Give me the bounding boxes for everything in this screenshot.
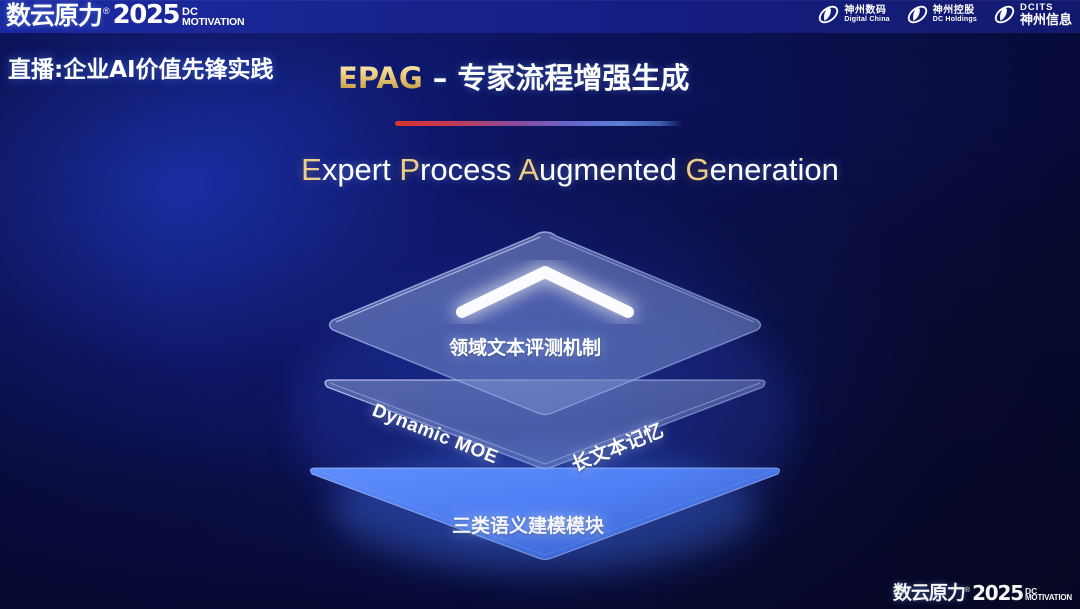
live-session-title: 直播:企业AI价值先锋实践 [8,50,274,84]
subtitle-rest-generation: eneration [710,152,839,187]
page-title: EPAG – 专家流程增强生成 [338,55,689,97]
watermark-dc-motivation: DC MOTIVATION [1025,587,1072,603]
partner-logo-cn: 神州信息 [1020,13,1072,27]
swoosh-icon [906,3,929,26]
subtitle-rest-augmented: ugmented [539,152,677,187]
brand-name-cn: 数云原力 [6,3,102,28]
subtitle-cap-g: G [685,152,709,187]
layer-label-top: 领域文本评测机制 [449,333,601,360]
partner-logo-en: DC Holdings [933,16,977,23]
page-title-chinese: 专家流程增强生成 [457,61,689,95]
brand-logo: 数云原力 ® 2025 DC MOTIVATION [6,2,244,28]
watermark-brand-cn: 数云原力 [893,584,965,603]
brand-dc-motivation: DC MOTIVATION [182,7,244,28]
subtitle-rest-process: rocess [420,152,511,187]
header-bar: 数云原力 ® 2025 DC MOTIVATION 神州数码 Digital C… [0,0,1080,33]
subtitle-cap-e: E [301,152,322,187]
swoosh-icon [993,3,1016,26]
partner-logo-dcits: DCITS 神州信息 [993,3,1072,27]
partner-logo-en: Digital China [844,16,889,23]
subtitle-rest-expert: xpert [322,152,391,187]
brand-year: 2025 [113,2,179,28]
title-divider [395,121,683,126]
watermark-registered-mark: ® [965,587,970,594]
page-title-acronym: EPAG [338,61,423,95]
brand-registered-mark: ® [103,7,110,16]
page-title-dash: – [423,61,458,95]
partner-logo-digital-china: 神州数码 Digital China [817,3,889,26]
watermark-motivation-text: MOTIVATION [1025,594,1072,602]
partner-logo-dc-holdings: 神州控股 DC Holdings [906,3,977,26]
partner-logo-group: 神州数码 Digital China 神州控股 DC Holdings [817,3,1072,27]
page-subtitle: Expert Process Augmented Generation [250,152,890,188]
subtitle-cap-p: P [399,152,420,187]
subtitle-cap-a: A [518,152,539,187]
swoosh-icon [817,3,840,26]
partner-logo-cn: 神州数码 [844,6,889,17]
slide-canvas: 领域文本评测机制 Dynamic MOE 长文本记忆 三类语义建模模块 数云原力… [0,0,1080,609]
footer-watermark: 数云原力 ® 2025 DC MOTIVATION [893,583,1072,603]
layer-label-bottom: 三类语义建模模块 [452,511,604,538]
brand-motivation-text: MOTIVATION [182,17,244,28]
partner-logo-cn: 神州控股 [933,6,977,17]
watermark-year: 2025 [972,583,1023,603]
